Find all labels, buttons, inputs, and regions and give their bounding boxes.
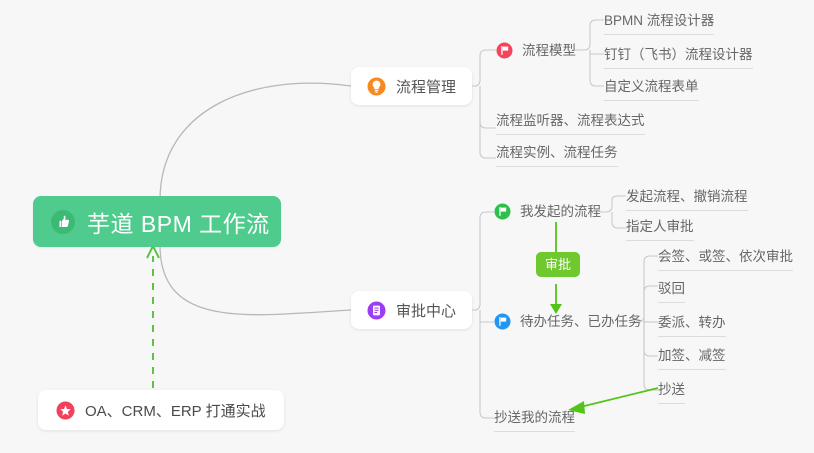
- line-process-mgmt-to-listener: [480, 86, 496, 128]
- leaf-label-countersign: 会签、或签、依次审批: [658, 248, 793, 265]
- leaf-label-delegate-transfer: 委派、转办: [658, 314, 726, 331]
- flag-icon: [494, 313, 511, 330]
- line-model-to-dingtalk: [590, 50, 604, 54]
- leaf-bpmn-designer[interactable]: BPMN 流程设计器: [604, 12, 714, 35]
- leaf-label-bpmn-designer: BPMN 流程设计器: [604, 12, 714, 29]
- lightbulb-icon: [367, 77, 386, 96]
- leaf-dingtalk-designer[interactable]: 钉钉（飞书）流程设计器: [604, 46, 753, 69]
- document-icon: [367, 301, 386, 320]
- line-tasks-to-reject: [644, 286, 658, 322]
- leaf-cc-to-me[interactable]: 抄送我的流程: [494, 409, 575, 432]
- line-mystarted-to-initiate: [600, 196, 626, 212]
- leaf-label-add-remove-sign: 加签、减签: [658, 347, 726, 364]
- curve-root-to-process-management: [160, 83, 351, 200]
- leaf-process-instance[interactable]: 流程实例、流程任务: [496, 144, 618, 167]
- node-label-integration-practice: OA、CRM、ERP 打通实战: [85, 400, 266, 421]
- leaf-label-custom-form: 自定义流程表单: [604, 78, 699, 95]
- approve-badge: 审批: [536, 252, 580, 277]
- line-process-mgmt-to-instance: [480, 86, 496, 158]
- leaf-label-todo-done-tasks: 待办任务、已办任务: [520, 313, 642, 330]
- line-model-to-bpmn: [574, 20, 604, 50]
- line-mystarted-to-assignee: [612, 212, 626, 228]
- line-tasks-to-cc: [644, 322, 658, 390]
- line-approval-to-cc: [480, 310, 494, 418]
- cc-arrow-line: [572, 388, 658, 409]
- line-model-to-customform: [590, 50, 604, 86]
- leaf-label-cc: 抄送: [658, 381, 685, 398]
- leaf-todo-done-tasks[interactable]: 待办任务、已办任务: [494, 313, 642, 335]
- leaf-process-listener[interactable]: 流程监听器、流程表达式: [496, 112, 645, 135]
- line-approval-to-tasks: [480, 310, 494, 322]
- thumbs-up-icon: [50, 209, 76, 235]
- curve-root-to-approval-center: [160, 245, 351, 315]
- leaf-initiate-cancel-process[interactable]: 发起流程、撤销流程: [626, 188, 748, 211]
- flag-icon: [494, 203, 511, 220]
- branch-node-process-management[interactable]: 流程管理: [351, 67, 472, 105]
- leaf-label-process-instance: 流程实例、流程任务: [496, 144, 618, 161]
- line-process-mgmt-to-model: [468, 50, 496, 86]
- leaf-add-remove-sign[interactable]: 加签、减签: [658, 347, 726, 370]
- leaf-custom-form[interactable]: 自定义流程表单: [604, 78, 699, 101]
- branch-label-process-management: 流程管理: [396, 76, 456, 97]
- leaf-label-my-started-processes: 我发起的流程: [520, 203, 601, 220]
- leaf-label-initiate-cancel-process: 发起流程、撤销流程: [626, 188, 748, 205]
- root-node[interactable]: 芋道 BPM 工作流: [33, 196, 281, 247]
- root-label: 芋道 BPM 工作流: [87, 205, 270, 239]
- node-integration-practice[interactable]: OA、CRM、ERP 打通实战: [38, 390, 284, 430]
- leaf-label-reject: 驳回: [658, 280, 685, 297]
- branch-label-approval-center: 审批中心: [396, 300, 456, 321]
- line-approval-to-my-started: [468, 212, 494, 310]
- leaf-process-model[interactable]: 流程模型: [496, 42, 576, 64]
- branch-node-approval-center[interactable]: 审批中心: [351, 291, 472, 329]
- leaf-countersign[interactable]: 会签、或签、依次审批: [658, 248, 793, 271]
- line-tasks-to-addsign: [644, 322, 658, 356]
- leaf-label-process-listener: 流程监听器、流程表达式: [496, 112, 645, 129]
- mindmap-canvas: 芋道 BPM 工作流 流程管理 流程模型 BPMN 流程设计器 钉钉（飞书: [0, 0, 814, 453]
- leaf-label-cc-to-me: 抄送我的流程: [494, 409, 575, 426]
- flag-icon: [496, 42, 513, 59]
- leaf-my-started-processes[interactable]: 我发起的流程: [494, 203, 601, 225]
- leaf-assignee-approval[interactable]: 指定人审批: [626, 218, 694, 241]
- leaf-delegate-transfer[interactable]: 委派、转办: [658, 314, 726, 337]
- star-icon: [56, 401, 75, 420]
- leaf-reject[interactable]: 驳回: [658, 280, 685, 303]
- leaf-cc[interactable]: 抄送: [658, 381, 685, 404]
- leaf-label-assignee-approval: 指定人审批: [626, 218, 694, 235]
- leaf-label-process-model: 流程模型: [522, 42, 576, 59]
- integration-arrow-head: [147, 246, 159, 258]
- leaf-label-dingtalk-designer: 钉钉（飞书）流程设计器: [604, 46, 753, 63]
